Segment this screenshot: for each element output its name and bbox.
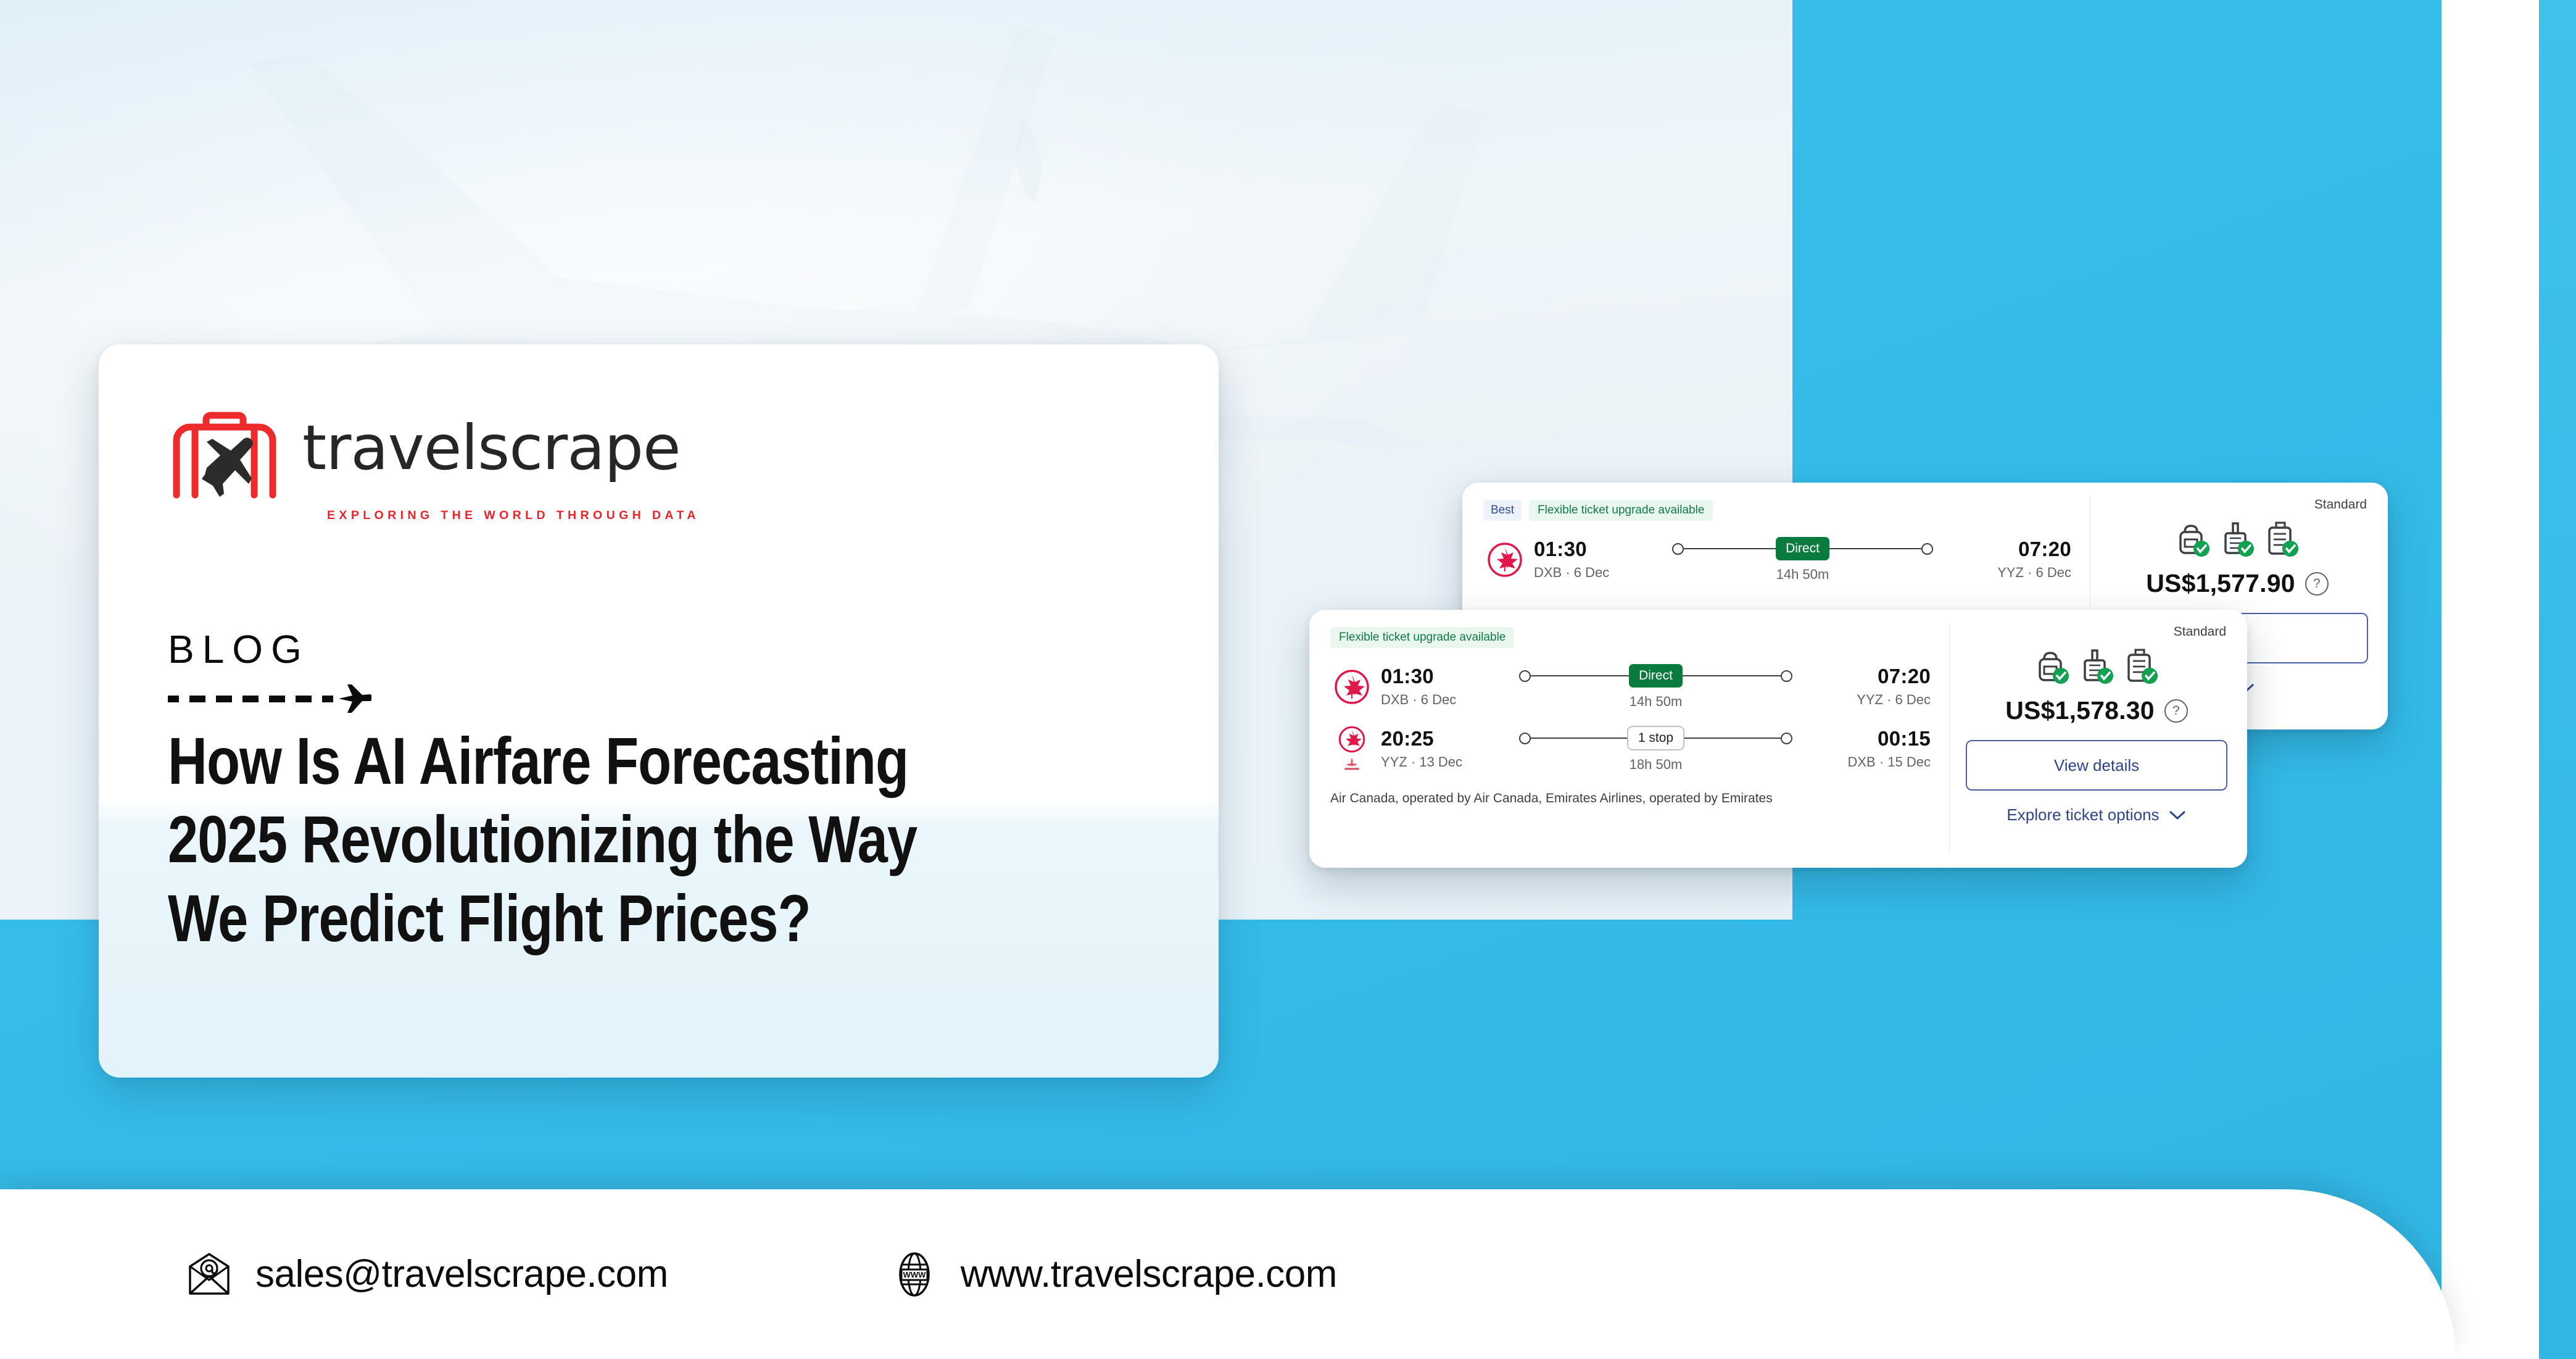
- route-dot-start: [1519, 670, 1531, 682]
- right-white-gap: [2441, 0, 2539, 1359]
- flexible-ticket-badge: Flexible ticket upgrade available: [1529, 500, 1713, 521]
- flight-result-card-front[interactable]: Flexible ticket upgrade available 01:30 …: [1309, 610, 2247, 868]
- arrive-time: 07:20: [1942, 539, 2071, 560]
- email-text: sales@travelscrape.com: [255, 1252, 668, 1296]
- depart-time: 20:25: [1381, 728, 1510, 750]
- route-dot-start: [1519, 733, 1531, 744]
- personal-item-icon: [2036, 648, 2069, 685]
- itinerary-leg: 01:30 DXB · 6 Dec Direct 14h 50m: [1483, 537, 2071, 583]
- air-canada-logo: [1330, 669, 1373, 705]
- right-cyan-strip: [2539, 0, 2576, 1359]
- page-title: How Is AI Airfare Forecasting 2025 Revol…: [168, 721, 957, 957]
- explore-label: Explore ticket options: [2007, 805, 2159, 825]
- flexible-ticket-badge: Flexible ticket upgrade available: [1330, 627, 1514, 648]
- ticket-price: US$1,578.30: [2005, 696, 2155, 725]
- fare-class-label: Standard: [2174, 625, 2226, 639]
- globe-www-icon: WWW: [890, 1250, 938, 1299]
- fare-class-label: Standard: [2314, 497, 2367, 512]
- arrive-time: 00:15: [1801, 728, 1931, 750]
- dashed-line-plane-icon: [168, 682, 1219, 715]
- air-canada-emirates-logo: [1330, 726, 1373, 773]
- logo-tagline: EXPLORING THE WORLD THROUGH DATA: [327, 509, 1219, 523]
- route-line: [1531, 675, 1629, 677]
- footer-contact-bar: sales@travelscrape.com WWW www.travelscr…: [0, 1189, 2576, 1359]
- depart-place: YYZ · 13 Dec: [1381, 754, 1510, 770]
- blog-kicker: BLOG: [168, 626, 1219, 672]
- route-line: [1684, 548, 1776, 550]
- leg-duration: 14h 50m: [1776, 567, 1829, 583]
- depart-place: DXB · 6 Dec: [1534, 565, 1663, 581]
- best-badge: Best: [1483, 500, 1522, 521]
- view-details-button[interactable]: View details: [1966, 740, 2227, 791]
- route-dot-start: [1672, 543, 1684, 555]
- operated-by-text: Air Canada, operated by Air Canada, Emir…: [1330, 791, 1931, 806]
- envelope-at-icon: [185, 1250, 233, 1299]
- air-canada-logo: [1483, 542, 1526, 578]
- arrive-place: YYZ · 6 Dec: [1801, 692, 1931, 708]
- chevron-down-icon: [2168, 810, 2187, 821]
- itinerary-leg: 01:30 DXB · 6 Dec Direct 14h 50m: [1330, 664, 1931, 710]
- depart-time: 01:30: [1381, 666, 1510, 688]
- website-contact[interactable]: WWW www.travelscrape.com: [890, 1250, 1337, 1299]
- personal-item-icon: [2176, 521, 2209, 558]
- route-dot-end: [1781, 733, 1792, 744]
- suitcase-plane-icon: [168, 411, 281, 499]
- stops-chip: Direct: [1776, 537, 1829, 560]
- page-stage: travelscrape EXPLORING THE WORLD THROUGH…: [0, 0, 2576, 1359]
- baggage-allowance-row: [2176, 521, 2298, 558]
- itinerary-leg: 20:25 YYZ · 13 Dec 1 stop 18h 50m: [1330, 726, 1931, 773]
- cabin-bag-icon: [2080, 648, 2113, 685]
- email-contact[interactable]: sales@travelscrape.com: [185, 1250, 668, 1299]
- question-mark-icon[interactable]: ?: [2305, 572, 2329, 596]
- arrive-place: DXB · 15 Dec: [1801, 754, 1931, 770]
- checked-bag-icon: [2265, 521, 2298, 558]
- route-dot-end: [1921, 543, 1933, 555]
- explore-ticket-options-link[interactable]: Explore ticket options: [2007, 805, 2186, 825]
- leg-duration: 18h 50m: [1630, 757, 1683, 773]
- route-line: [1829, 548, 1921, 550]
- stops-chip: Direct: [1629, 664, 1683, 688]
- question-mark-icon[interactable]: ?: [2164, 699, 2188, 723]
- route-dot-end: [1781, 670, 1792, 682]
- arrive-time: 07:20: [1801, 666, 1931, 688]
- ticket-price: US$1,577.90: [2146, 569, 2295, 598]
- route-line: [1683, 675, 1781, 677]
- stops-chip: 1 stop: [1627, 726, 1684, 750]
- brand-logo: travelscrape: [168, 411, 1219, 499]
- cabin-bag-icon: [2221, 521, 2254, 558]
- arrive-place: YYZ · 6 Dec: [1942, 565, 2071, 581]
- route-line: [1684, 738, 1781, 739]
- depart-place: DXB · 6 Dec: [1381, 692, 1510, 708]
- route-line: [1531, 738, 1627, 739]
- logo-wordmark: travelscrape: [302, 417, 681, 479]
- checked-bag-icon: [2124, 648, 2158, 685]
- depart-time: 01:30: [1534, 539, 1663, 560]
- baggage-allowance-row: [2036, 648, 2158, 685]
- leg-duration: 14h 50m: [1630, 694, 1683, 710]
- blog-hero-card: travelscrape EXPLORING THE WORLD THROUGH…: [99, 344, 1219, 1078]
- website-text: www.travelscrape.com: [961, 1252, 1337, 1296]
- svg-text:WWW: WWW: [903, 1270, 926, 1279]
